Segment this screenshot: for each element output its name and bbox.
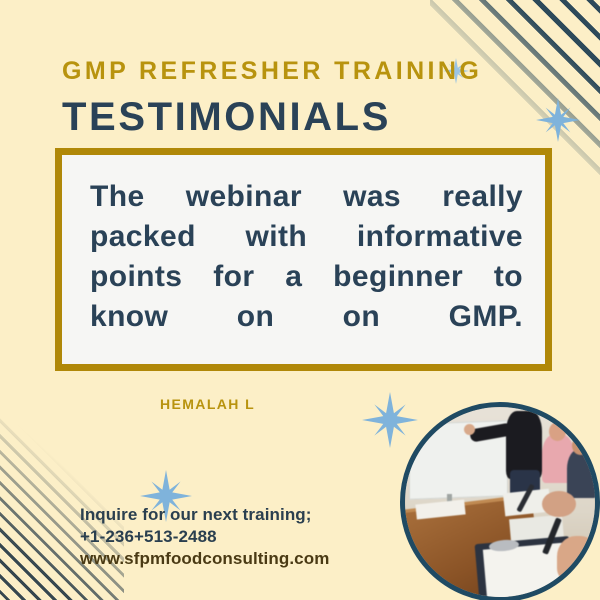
contact-block: Inquire for our next training; +1-236+51… [80, 504, 329, 569]
training-photo-circle [400, 402, 600, 600]
contact-line-phone[interactable]: +1-236+513-2488 [80, 526, 329, 548]
quote-frame: The webinar was really packed with infor… [55, 148, 552, 371]
sparkle-icon-top-right [536, 98, 580, 142]
eyebrow-heading: GMP REFRESHER TRAINING [62, 57, 482, 86]
contact-line-website[interactable]: www.sfpmfoodconsulting.com [80, 548, 329, 570]
page-title: TESTIMONIALS [62, 95, 391, 140]
attribution-name: HEMALAH L [160, 396, 255, 412]
testimonial-poster: GMP REFRESHER TRAINING TESTIMONIALS The … [0, 0, 600, 600]
quote-text: The webinar was really packed with infor… [90, 177, 523, 376]
contact-line-inquire: Inquire for our next training; [80, 504, 329, 526]
training-photo-image [405, 407, 595, 597]
